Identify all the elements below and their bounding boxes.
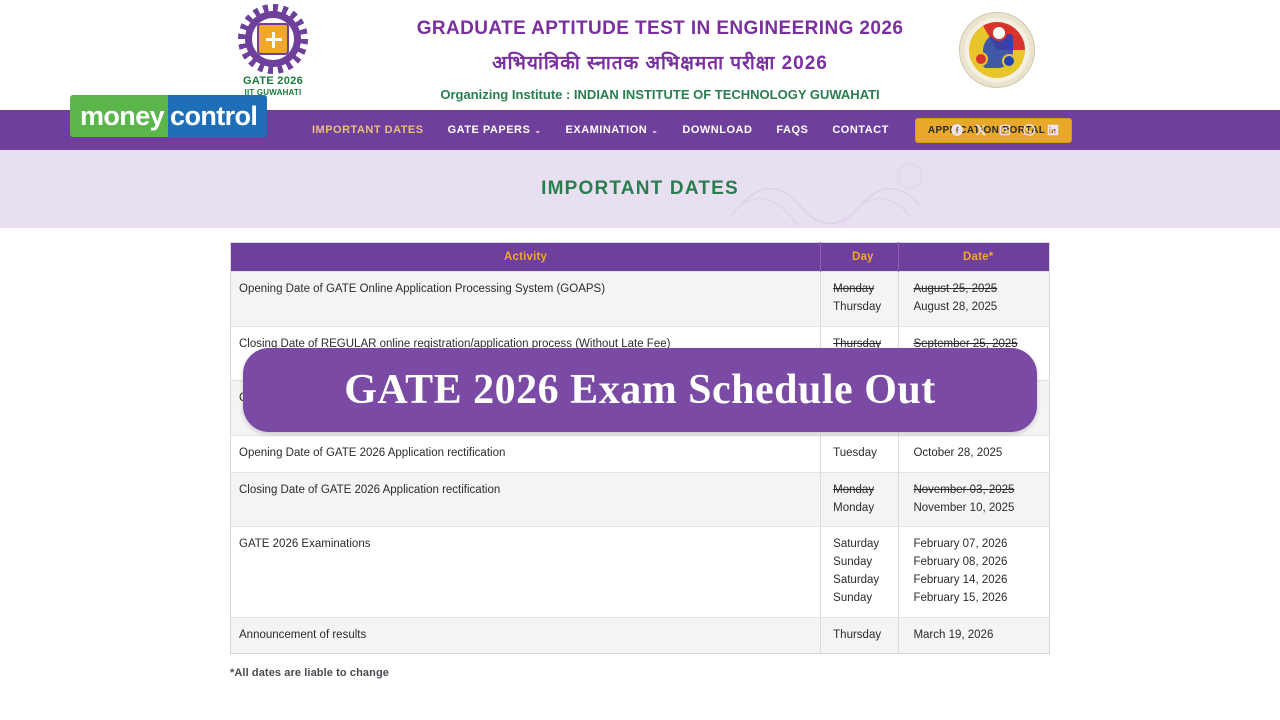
value: November 10, 2025 <box>913 500 1041 518</box>
value: February 07, 2026 <box>913 536 1041 554</box>
cell-day: Tuesday <box>821 435 899 472</box>
organizing-institute: Organizing Institute : INDIAN INSTITUTE … <box>417 87 904 102</box>
cell-day: MondayThursday <box>821 272 899 327</box>
banner-decoration <box>730 156 950 226</box>
gate-gear-icon <box>238 4 308 74</box>
table-head: Activity Day Date* <box>231 243 1050 272</box>
value: Thursday <box>833 627 890 645</box>
value: February 15, 2026 <box>913 590 1041 608</box>
value-struck: Monday <box>833 482 890 500</box>
cell-activity: Opening Date of GATE 2026 Application re… <box>231 435 821 472</box>
value-struck: November 03, 2025 <box>913 482 1041 500</box>
nav-label: DOWNLOAD <box>682 124 752 136</box>
site-header: GATE 2026 IIT GUWAHATI GRADUATE APTITUDE… <box>0 0 1280 110</box>
chevron-down-icon: ⌄ <box>651 126 658 135</box>
nav-item-faqs[interactable]: FAQS <box>764 124 820 136</box>
value: Tuesday <box>833 445 890 463</box>
important-dates-table: Activity Day Date* Opening Date of GATE … <box>230 242 1050 654</box>
nav-item-examination[interactable]: EXAMINATION ⌄ <box>554 124 671 136</box>
x-twitter-icon[interactable] <box>973 123 988 138</box>
cell-activity: Closing Date of GATE 2026 Application re… <box>231 472 821 527</box>
overlay-headline-text: GATE 2026 Exam Schedule Out <box>344 366 935 414</box>
page-title: IMPORTANT DATES <box>541 178 739 200</box>
value-struck: August 25, 2025 <box>913 281 1041 299</box>
value: Saturday <box>833 536 890 554</box>
nav-label: FAQS <box>776 124 808 136</box>
title-hindi: अभियांत्रिकी स्नातक अभिक्षमता परीक्षा 20… <box>417 49 904 75</box>
column-header-activity: Activity <box>231 243 821 272</box>
value: March 19, 2026 <box>913 627 1041 645</box>
column-header-date: Date* <box>899 243 1050 272</box>
nav-label: EXAMINATION <box>566 124 648 136</box>
header-titles: GRADUATE APTITUDE TEST IN ENGINEERING 20… <box>377 8 904 102</box>
gate-logo-title: GATE 2026 <box>243 76 303 88</box>
moneycontrol-control-text: control <box>168 95 267 137</box>
table-header-row: Activity Day Date* <box>231 243 1050 272</box>
cell-day: MondayMonday <box>821 472 899 527</box>
value: Saturday <box>833 572 890 590</box>
cell-day: SaturdaySundaySaturdaySunday <box>821 527 899 617</box>
chevron-down-icon: ⌄ <box>534 126 541 135</box>
value: Sunday <box>833 590 890 608</box>
facebook-icon[interactable] <box>949 123 964 138</box>
nav-item-gate-papers[interactable]: GATE PAPERS ⌄ <box>436 124 554 136</box>
value: February 14, 2026 <box>913 572 1041 590</box>
value: Sunday <box>833 554 890 572</box>
nav-label: IMPORTANT DATES <box>312 124 424 136</box>
page-banner: IMPORTANT DATES <box>0 150 1280 228</box>
column-header-day: Day <box>821 243 899 272</box>
value: October 28, 2025 <box>913 445 1041 463</box>
cell-day: Thursday <box>821 617 899 654</box>
cell-date: October 28, 2025 <box>899 435 1050 472</box>
table-row: Opening Date of GATE Online Application … <box>231 272 1050 327</box>
nav-item-important-dates[interactable]: IMPORTANT DATES <box>300 124 436 136</box>
value: February 08, 2026 <box>913 554 1041 572</box>
linkedin-icon[interactable] <box>1045 123 1060 138</box>
page-content: Activity Day Date* Opening Date of GATE … <box>0 228 1280 679</box>
table-row: Announcement of resultsThursdayMarch 19,… <box>231 617 1050 654</box>
cell-date: March 19, 2026 <box>899 617 1050 654</box>
nav-label: CONTACT <box>832 124 888 136</box>
table-row: Closing Date of GATE 2026 Application re… <box>231 472 1050 527</box>
moneycontrol-money-text: money <box>70 95 168 137</box>
cell-date: November 03, 2025November 10, 2025 <box>899 472 1050 527</box>
title-english: GRADUATE APTITUDE TEST IN ENGINEERING 20… <box>417 18 904 40</box>
value-struck: Monday <box>833 281 890 299</box>
iit-guwahati-logo <box>959 12 1035 88</box>
social-links <box>949 123 1060 138</box>
nav-label: GATE PAPERS <box>448 124 531 136</box>
table-body: Opening Date of GATE Online Application … <box>231 272 1050 654</box>
nav-item-contact[interactable]: CONTACT <box>820 124 900 136</box>
cell-activity: Announcement of results <box>231 617 821 654</box>
cell-date: February 07, 2026February 08, 2026Februa… <box>899 527 1050 617</box>
cell-activity: GATE 2026 Examinations <box>231 527 821 617</box>
gate-2026-logo: GATE 2026 IIT GUWAHATI <box>232 4 314 100</box>
value: Monday <box>833 500 890 518</box>
value: August 28, 2025 <box>913 299 1041 317</box>
table-footnote: *All dates are liable to change <box>230 667 1050 679</box>
cell-date: August 25, 2025August 28, 2025 <box>899 272 1050 327</box>
table-row: GATE 2026 ExaminationsSaturdaySundaySatu… <box>231 527 1050 617</box>
moneycontrol-watermark-logo: money control <box>70 95 267 137</box>
overlay-headline-badge: GATE 2026 Exam Schedule Out <box>243 348 1037 432</box>
value: Thursday <box>833 299 890 317</box>
nav-item-download[interactable]: DOWNLOAD <box>670 124 764 136</box>
cell-activity: Opening Date of GATE Online Application … <box>231 272 821 327</box>
whatsapp-icon[interactable] <box>1021 123 1036 138</box>
instagram-icon[interactable] <box>997 123 1012 138</box>
table-row: Opening Date of GATE 2026 Application re… <box>231 435 1050 472</box>
